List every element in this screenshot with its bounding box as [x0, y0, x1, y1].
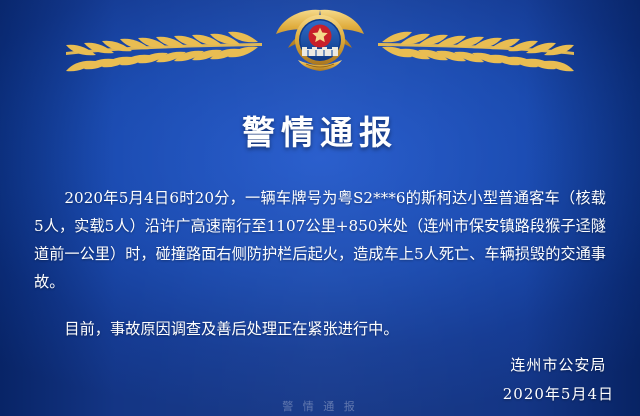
notice-body: 2020年5月4日6时20分，一辆车牌号为粤S2***6的斯柯达小型普通客车（核… [34, 184, 606, 343]
poster-header [0, 0, 640, 92]
china-police-badge-icon [272, 4, 368, 84]
signature-date: 2020年5月4日 [503, 380, 614, 409]
police-notice-poster: 警情通报 2020年5月4日6时20分，一辆车牌号为粤S2***6的斯柯达小型普… [0, 0, 640, 416]
paragraph-2: 目前，事故原因调查及善后处理正在紧张进行中。 [34, 315, 606, 343]
watermark-text: 警 情 通 报 [282, 398, 358, 414]
wheat-sprig-left-icon [62, 28, 272, 74]
wheat-sprig-right-icon [368, 28, 578, 74]
page-title: 警情通报 [0, 106, 640, 154]
signature-block: 连州市公安局 2020年5月4日 [503, 351, 614, 408]
paragraph-1: 2020年5月4日6时20分，一辆车牌号为粤S2***6的斯柯达小型普通客车（核… [34, 184, 606, 297]
signature-organization: 连州市公安局 [503, 351, 614, 380]
